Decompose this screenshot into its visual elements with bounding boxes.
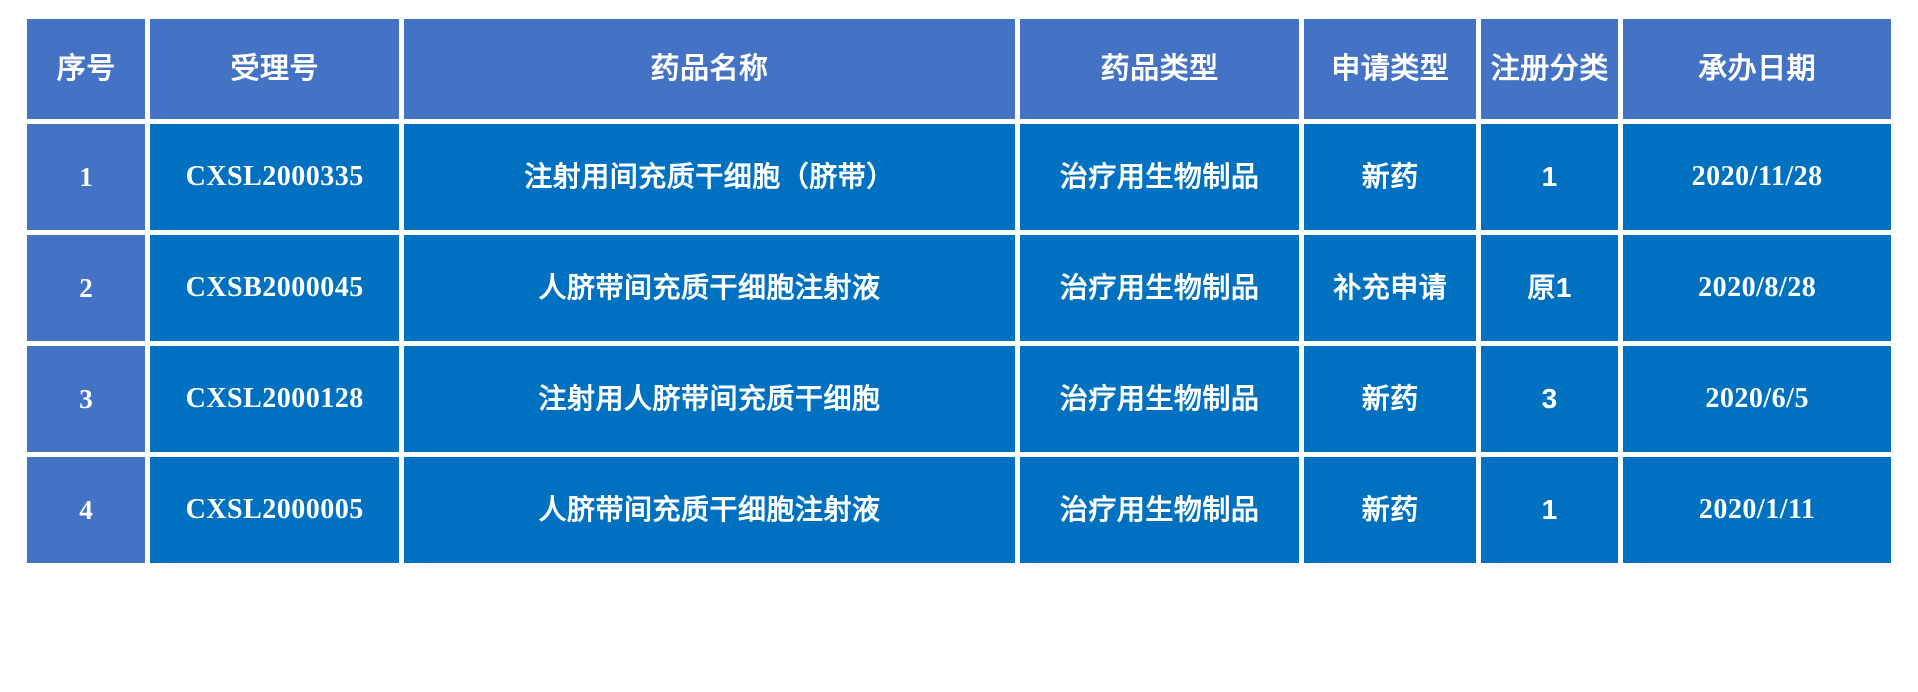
cell-reg: 3 xyxy=(1481,346,1618,452)
header-row: 序号 受理号 药品名称 药品类型 申请类型 注册分类 承办日期 xyxy=(27,19,1891,119)
table-row: 1 CXSL2000335 注射用间充质干细胞（脐带） 治疗用生物制品 新药 1… xyxy=(27,124,1891,230)
cell-apply: 新药 xyxy=(1304,124,1476,230)
cell-name: 人脐带间充质干细胞注射液 xyxy=(404,235,1015,341)
table-body: 1 CXSL2000335 注射用间充质干细胞（脐带） 治疗用生物制品 新药 1… xyxy=(27,124,1891,563)
cell-reg: 1 xyxy=(1481,457,1618,563)
column-header-code: 受理号 xyxy=(150,19,399,119)
cell-index: 4 xyxy=(27,457,145,563)
cell-index: 1 xyxy=(27,124,145,230)
cell-type: 治疗用生物制品 xyxy=(1020,235,1299,341)
cell-type: 治疗用生物制品 xyxy=(1020,346,1299,452)
cell-reg: 原1 xyxy=(1481,235,1618,341)
cell-name: 注射用间充质干细胞（脐带） xyxy=(404,124,1015,230)
cell-index: 3 xyxy=(27,346,145,452)
table-row: 2 CXSB2000045 人脐带间充质干细胞注射液 治疗用生物制品 补充申请 … xyxy=(27,235,1891,341)
cell-date: 2020/11/28 xyxy=(1623,124,1891,230)
table-sheet: 序号 受理号 药品名称 药品类型 申请类型 注册分类 承办日期 1 CXSL20… xyxy=(0,0,1918,692)
column-header-index: 序号 xyxy=(27,19,145,119)
cell-code: CXSL2000128 xyxy=(150,346,399,452)
cell-date: 2020/8/28 xyxy=(1623,235,1891,341)
cell-name: 注射用人脐带间充质干细胞 xyxy=(404,346,1015,452)
column-header-type: 药品类型 xyxy=(1020,19,1299,119)
cell-apply: 新药 xyxy=(1304,346,1476,452)
table-header: 序号 受理号 药品名称 药品类型 申请类型 注册分类 承办日期 xyxy=(27,19,1891,119)
cell-apply: 补充申请 xyxy=(1304,235,1476,341)
cell-code: CXSL2000005 xyxy=(150,457,399,563)
column-header-apply: 申请类型 xyxy=(1304,19,1476,119)
column-header-name: 药品名称 xyxy=(404,19,1015,119)
cell-index: 2 xyxy=(27,235,145,341)
drug-application-table: 序号 受理号 药品名称 药品类型 申请类型 注册分类 承办日期 1 CXSL20… xyxy=(22,14,1896,568)
table-row: 3 CXSL2000128 注射用人脐带间充质干细胞 治疗用生物制品 新药 3 … xyxy=(27,346,1891,452)
column-header-date: 承办日期 xyxy=(1623,19,1891,119)
cell-date: 2020/6/5 xyxy=(1623,346,1891,452)
table-row: 4 CXSL2000005 人脐带间充质干细胞注射液 治疗用生物制品 新药 1 … xyxy=(27,457,1891,563)
cell-code: CXSL2000335 xyxy=(150,124,399,230)
cell-type: 治疗用生物制品 xyxy=(1020,457,1299,563)
cell-reg: 1 xyxy=(1481,124,1618,230)
cell-code: CXSB2000045 xyxy=(150,235,399,341)
cell-date: 2020/1/11 xyxy=(1623,457,1891,563)
cell-name: 人脐带间充质干细胞注射液 xyxy=(404,457,1015,563)
cell-type: 治疗用生物制品 xyxy=(1020,124,1299,230)
column-header-reg: 注册分类 xyxy=(1481,19,1618,119)
cell-apply: 新药 xyxy=(1304,457,1476,563)
